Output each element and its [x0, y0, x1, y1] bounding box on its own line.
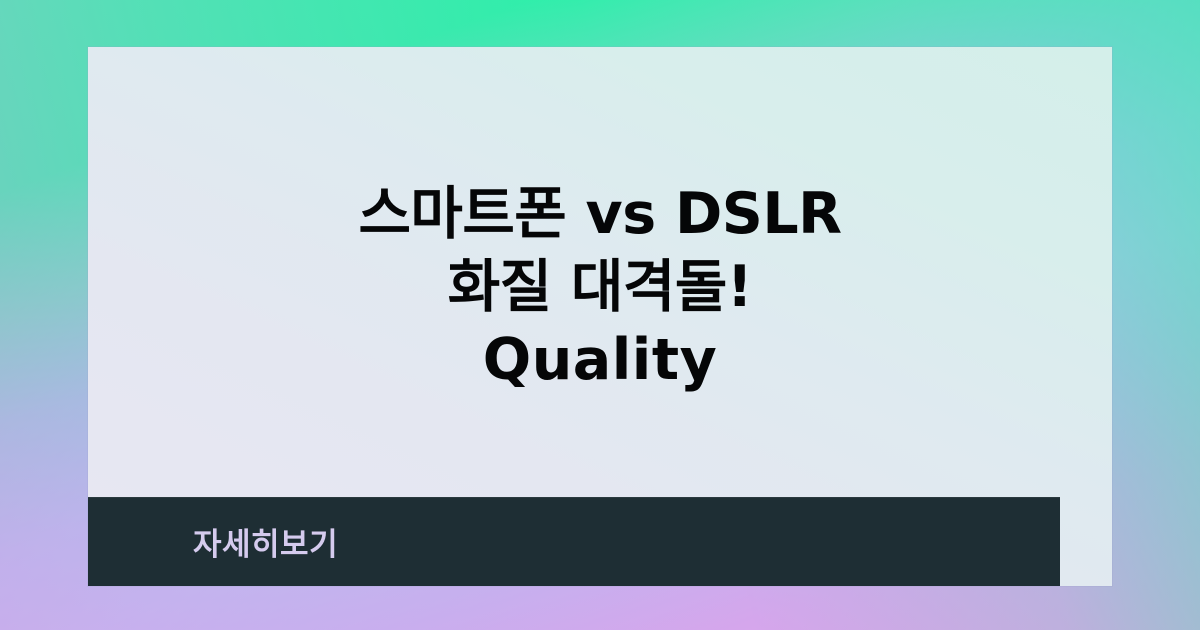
thumbnail-canvas: 스마트폰 vs DSLR 화질 대격돌! Quality 자세히보기: [0, 0, 1200, 630]
title-line-3: Quality: [112, 324, 1088, 397]
content-card: 스마트폰 vs DSLR 화질 대격돌! Quality 자세히보기: [88, 47, 1112, 586]
title-line-1: 스마트폰 vs DSLR: [112, 178, 1088, 251]
read-more-label: 자세히보기: [88, 519, 338, 564]
page-title: 스마트폰 vs DSLR 화질 대격돌! Quality: [88, 178, 1112, 397]
title-line-2: 화질 대격돌!: [112, 251, 1088, 324]
read-more-button[interactable]: 자세히보기: [88, 497, 1060, 586]
